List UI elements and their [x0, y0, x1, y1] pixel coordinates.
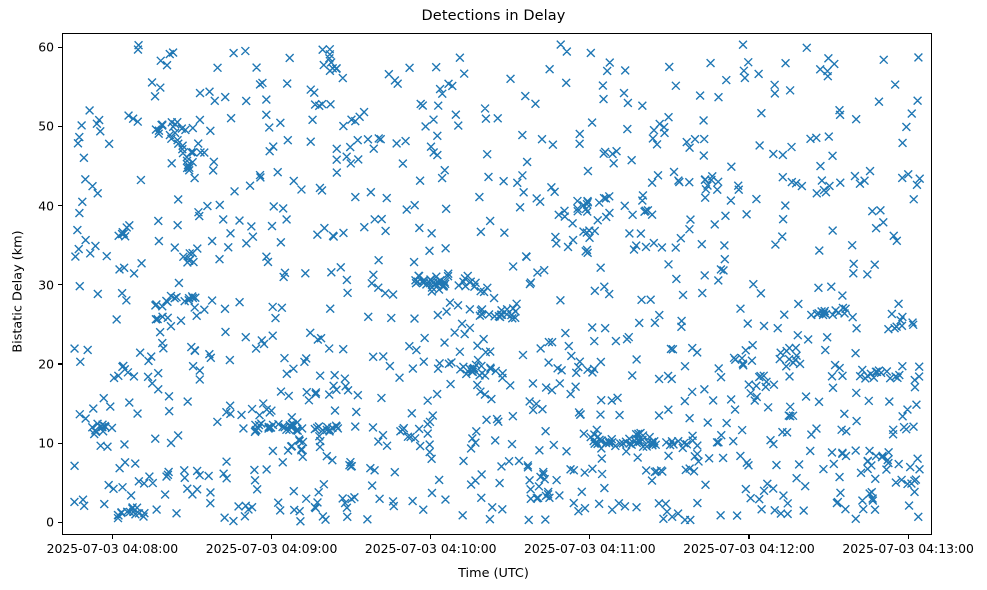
x-tick-label: 2025-07-03 04:11:00 [524, 541, 656, 556]
x-tick-label: 2025-07-03 04:10:00 [365, 541, 497, 556]
y-tick-label: 0 [0, 515, 54, 530]
y-tick-mark [58, 522, 62, 523]
y-tick-label: 40 [0, 198, 54, 213]
matplotlib-figure: Detections in Delay 0102030405060 2025-0… [0, 0, 987, 590]
y-tick-label: 50 [0, 119, 54, 134]
x-tick-mark [112, 535, 113, 539]
y-tick-mark [58, 205, 62, 206]
chart-title: Detections in Delay [0, 8, 987, 24]
x-tick-mark [589, 535, 590, 539]
y-tick-mark [58, 443, 62, 444]
plot-area [62, 33, 932, 535]
x-axis-label: Time (UTC) [0, 566, 987, 581]
scatter-series [63, 34, 931, 534]
x-tick-mark [748, 535, 749, 539]
y-axis-label: Bistatic Delay (km) [11, 182, 26, 402]
y-tick-label: 30 [0, 277, 54, 292]
y-tick-label: 10 [0, 436, 54, 451]
y-tick-mark [58, 47, 62, 48]
y-tick-mark [58, 284, 62, 285]
y-tick-mark [58, 126, 62, 127]
x-tick-mark [271, 535, 272, 539]
x-tick-label: 2025-07-03 04:12:00 [683, 541, 815, 556]
y-tick-label: 20 [0, 356, 54, 371]
y-tick-mark [58, 363, 62, 364]
y-tick-label: 60 [0, 40, 54, 55]
x-tick-label: 2025-07-03 04:08:00 [47, 541, 179, 556]
x-tick-mark [908, 535, 909, 539]
x-tick-label: 2025-07-03 04:09:00 [206, 541, 338, 556]
x-tick-mark [430, 535, 431, 539]
x-tick-label: 2025-07-03 04:13:00 [842, 541, 974, 556]
scatter-markers [70, 41, 923, 526]
